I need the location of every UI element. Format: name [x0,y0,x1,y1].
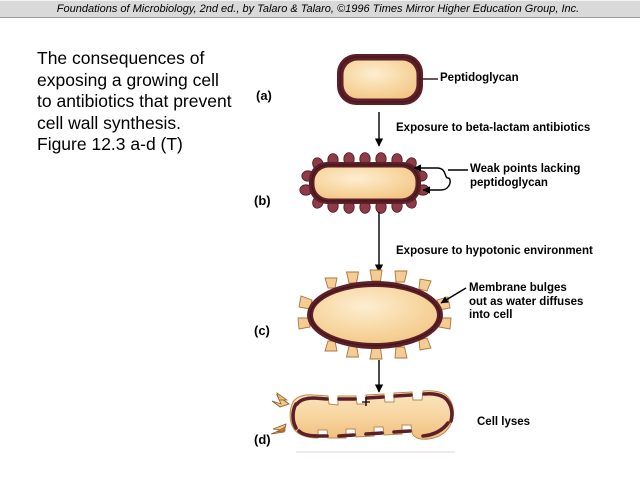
cell-diagram-d [271,391,455,452]
cell-lysate-spill-d [271,393,289,434]
callout-peptidoglycan: Peptidoglycan [440,72,519,86]
callout-weak-points-line-2: peptidoglycan [470,177,580,191]
panel-letter-a: (a) [256,88,272,103]
callout-cell-lyses: Cell lyses [477,416,530,430]
cell-wall-inner-line-b [312,165,418,201]
attribution-text: Foundations of Microbiology, 2nd ed., by… [0,1,636,18]
cell-wall-a [337,54,423,105]
attribution-bar: Foundations of Microbiology, 2nd ed., by… [0,0,640,18]
panel-letter-b: (b) [254,193,271,208]
cell-wall-inner-line-a [340,57,420,102]
caption-line-3: to antibiotics that prevent [37,91,259,113]
cell-wall-c [307,281,443,349]
caption-line-4: cell wall synthesis. [37,113,259,135]
flow-step-2-label: Exposure to hypotonic environment [396,245,593,257]
panel-letter-d: (d) [254,432,271,447]
callout-leader-weak-points [414,168,468,190]
figure-caption: The consequences of exposing a growing c… [37,48,259,156]
callout-leader-membrane-bulges [441,288,466,303]
cell-diagram-b [300,153,429,214]
flow-step-1-label: Exposure to beta-lactam antibiotics [396,122,590,134]
cell-diagram-a [337,54,438,105]
cell-wall-inner-line-c [311,285,440,346]
weak-points-b [300,153,429,214]
membrane-bulges-c [298,270,451,359]
cytoplasm-a [344,61,417,99]
cytoplasm-b [315,168,416,199]
cytoplasm-c [313,287,437,343]
cell-diagram-c [298,270,451,359]
cell-wall-b [309,162,421,204]
caption-line-2: exposing a growing cell [37,70,259,92]
figure-canvas: Foundations of Microbiology, 2nd ed., by… [0,0,640,480]
panel-letter-c: (c) [254,323,270,338]
callout-membrane-bulges-line-1: Membrane bulges [469,282,583,296]
caption-line-1: The consequences of [37,48,259,70]
callout-membrane-bulges-line-2: out as water diffuses [469,296,583,310]
caption-line-5: Figure 12.3 a-d (T) [37,134,259,156]
callout-membrane-bulges: Membrane bulges out as water diffuses in… [469,282,583,323]
cytoplasm-d [290,391,453,440]
callout-membrane-bulges-line-3: into cell [469,309,583,323]
cell-wall-fragments-d [293,394,452,436]
callout-weak-points-line-1: Weak points lacking [470,163,580,177]
callout-weak-points: Weak points lacking peptidoglycan [470,163,580,190]
rupture-marks-d [362,397,370,406]
